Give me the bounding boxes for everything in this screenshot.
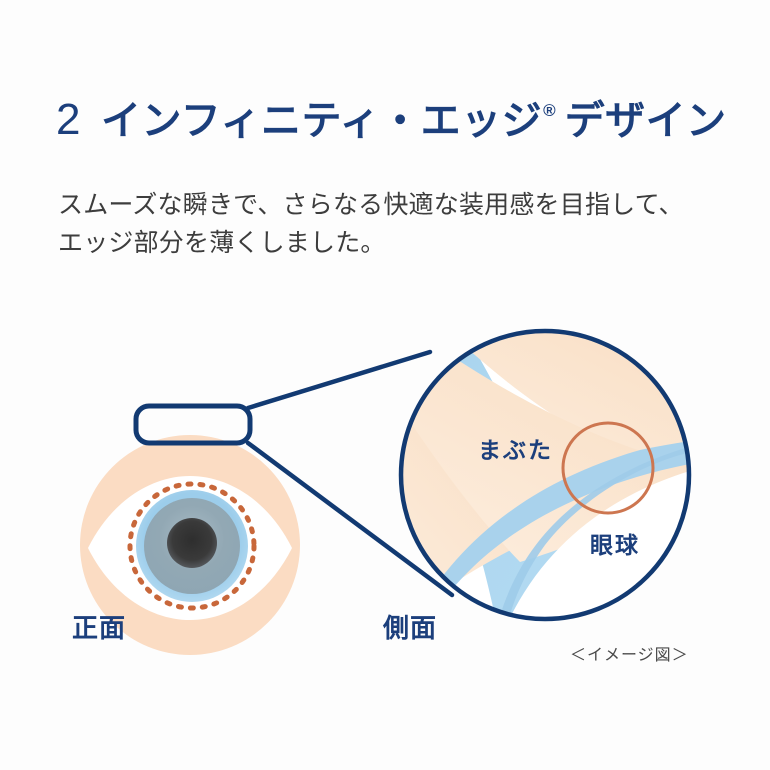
title-suffix: デザイン xyxy=(565,99,727,143)
side-view-magnifier: まぶた 眼球 xyxy=(330,300,720,640)
section-number: 2 xyxy=(56,98,81,142)
registered-trademark-icon: ® xyxy=(543,101,556,120)
infographic-page: 2 インフィニティ・エッジ®デザイン スムーズな瞬きで、さらなる快適な装用感を目… xyxy=(0,0,770,770)
side-view-label: 側面 xyxy=(383,608,437,645)
subtitle-text: スムーズな瞬きで、さらなる快適な装用感を目指して、 エッジ部分を薄くしました。 xyxy=(58,186,738,262)
eyeball-label: 眼球 xyxy=(590,532,640,558)
pupil xyxy=(167,518,217,568)
title-main: インフィニティ・エッジ xyxy=(101,99,542,143)
eyelid-label: まぶた xyxy=(478,437,553,463)
subtitle-line-2: エッジ部分を薄くしました。 xyxy=(58,224,738,262)
title-group: インフィニティ・エッジ®デザイン xyxy=(81,101,727,141)
subtitle-line-1: スムーズな瞬きで、さらなる快適な装用感を目指して、 xyxy=(58,186,738,224)
page-title: 2 インフィニティ・エッジ®デザイン xyxy=(56,98,727,142)
connector-line-top xyxy=(248,352,430,408)
front-view-label: 正面 xyxy=(72,608,126,645)
image-caption: ＜イメージ図＞ xyxy=(570,641,689,665)
